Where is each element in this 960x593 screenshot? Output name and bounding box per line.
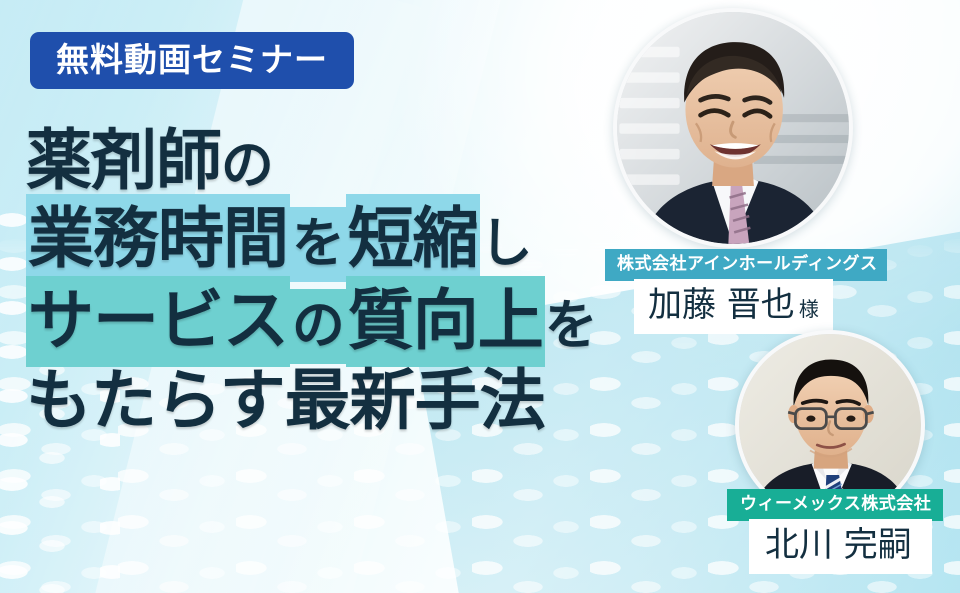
headline-line-1: 薬剤師の [26,128,686,194]
headline-line-4: もたらす最新手法 [26,368,686,434]
headline-line-3: サービスの質向上を [26,288,686,354]
speaker-2-name: 北川 完嗣 [765,525,912,565]
speaker-1-name: 加藤 晋也 [648,285,795,325]
headline-line-1-main: 薬剤師 [26,122,221,199]
headline-line-3-tail: を [545,295,597,356]
headline-line-1-tail: の [221,135,273,196]
free-video-seminar-badge: 無料動画セミナー [30,32,354,89]
speaker-2-company: ウィーメックス株式会社 [727,489,943,521]
speaker-2-name-plate: 北川 完嗣 [749,519,932,574]
speaker-1-name-plate: 加藤 晋也様 [634,279,833,334]
headline-line-2-particle: を [290,207,346,282]
headline-line-3-highlight-2: 質向上 [346,276,545,367]
speaker-1-company: 株式会社アインホールディングス [605,249,887,281]
speaker-1-avatar [613,8,853,248]
headline-block: 薬剤師の 業務時間を短縮し サービスの質向上を もたらす最新手法 [26,128,686,434]
headline-line-2-highlight-2: 短縮 [346,194,480,285]
headline-line-3-particle: の [290,289,346,364]
speaker-1-honorific: 様 [799,297,819,321]
headline-line-2-tail: し [480,213,532,274]
headline-line-3-highlight-1: サービス [26,276,290,367]
seminar-banner: 無料動画セミナー 薬剤師の 業務時間を短縮し サービスの質向上を もたらす最新手… [0,0,960,593]
headline-line-2: 業務時間を短縮し [26,206,686,272]
headline-line-2-highlight-1: 業務時間 [26,194,290,285]
